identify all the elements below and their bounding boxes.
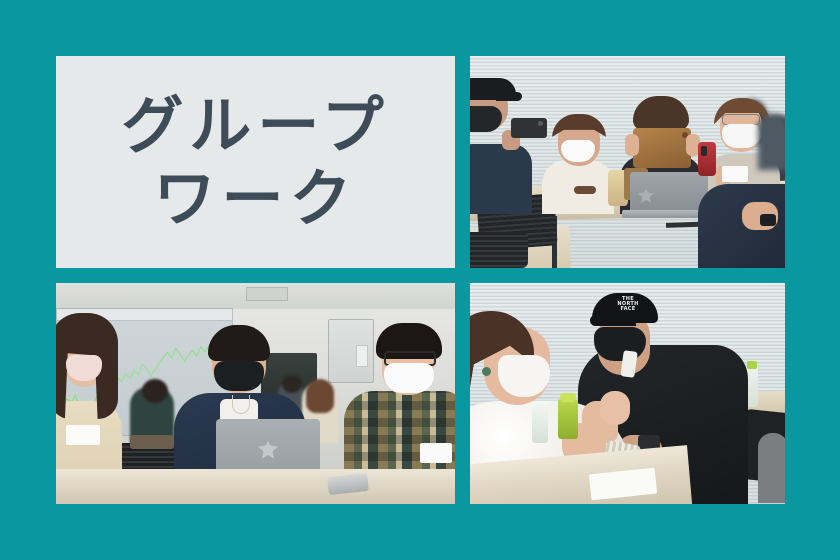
chair-seat <box>130 435 174 449</box>
wall-sign <box>356 345 368 367</box>
name-tag <box>66 425 100 445</box>
face-mask-white <box>384 363 434 393</box>
long-table <box>56 469 455 504</box>
photo-seminar-laptop-chart <box>56 283 455 504</box>
bottle-cap-green-2 <box>560 393 576 402</box>
green-bottle <box>558 399 578 439</box>
background-person-2-head <box>282 375 302 393</box>
background-person-3-hair <box>306 379 334 413</box>
title-line-2: ワーク <box>153 164 357 233</box>
background-person-head <box>142 379 168 403</box>
north-face-label: THE NORTH FACE <box>612 297 644 312</box>
cap-logo-text: THE NORTH FACE <box>612 297 644 311</box>
cap-brim <box>496 92 522 101</box>
earring <box>482 367 491 376</box>
bracelet <box>574 186 596 194</box>
cap-brim <box>590 315 636 326</box>
phone-camera <box>538 121 543 126</box>
hand <box>625 134 639 156</box>
person-partial-right <box>758 433 785 503</box>
hair <box>633 96 689 130</box>
ceiling-vent <box>246 287 288 301</box>
photo-discussion-pair: THE NORTH FACE <box>470 283 785 504</box>
face-mask-white <box>498 355 550 397</box>
hand-raised-2 <box>600 391 630 425</box>
bottle-cap-green <box>747 361 757 369</box>
face-mask-white <box>561 140 595 162</box>
poster-canvas: グループ ワーク <box>0 0 840 560</box>
face-mask-black <box>214 361 264 391</box>
water-bottle-2 <box>532 401 548 443</box>
face-mask-black <box>594 327 646 361</box>
title-line-1: グループ <box>121 91 389 160</box>
group-work-title-panel: グループ ワーク <box>56 56 455 268</box>
name-tag <box>722 166 748 182</box>
name-tag <box>420 443 452 463</box>
photo-classroom-devices <box>470 56 785 268</box>
background-person-3 <box>758 114 785 170</box>
phone-camera <box>701 146 707 156</box>
lanyard <box>232 395 250 414</box>
face-mask-white <box>722 124 760 148</box>
wristwatch <box>760 214 776 226</box>
chair-seat <box>470 232 528 268</box>
